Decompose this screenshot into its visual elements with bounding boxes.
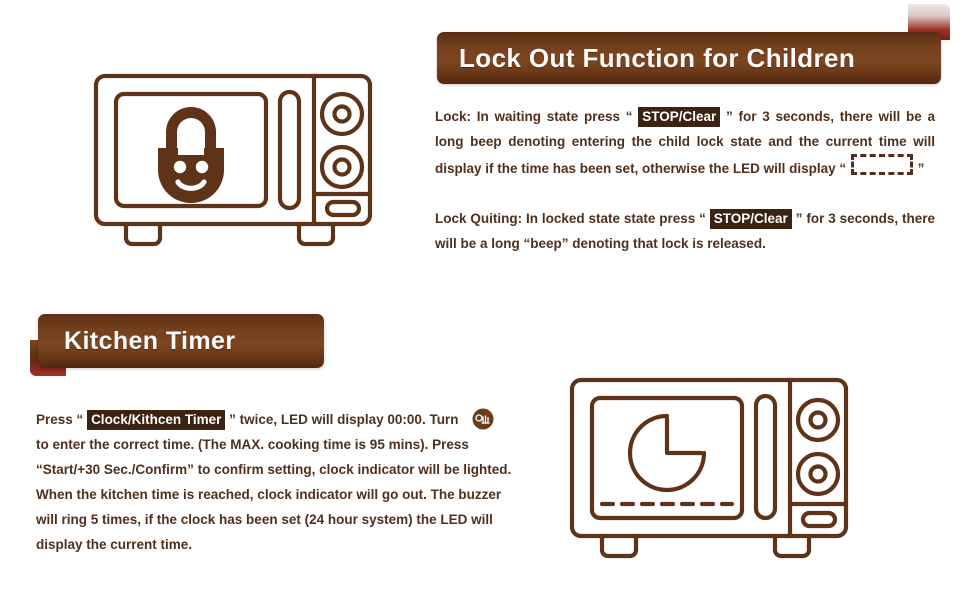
foot-left: [126, 224, 160, 244]
smiley-eye-right: [196, 161, 208, 173]
stop-clear-chip[interactable]: STOP/Clear: [710, 209, 792, 229]
timer-text-after-chip: ” twice, LED will display 00:00. Turn: [229, 412, 458, 427]
knob-outer-lower: [798, 454, 838, 494]
stop-clear-chip[interactable]: STOP/Clear: [638, 107, 720, 127]
ribbon-banner-kitchen-timer: Kitchen Timer: [38, 314, 324, 368]
padlock-smiley-icon: [158, 107, 224, 203]
padlock-shackle: [166, 107, 216, 148]
paragraph-lock: Lock: In waiting state press “ STOP/Clea…: [435, 104, 935, 181]
knob-inner-upper: [335, 107, 350, 122]
panel-slot: [803, 513, 835, 526]
door-handle: [756, 396, 775, 518]
ribbon-banner-lock-out: Lock Out Function for Children: [437, 32, 941, 84]
lock-text-before-chip: Lock: In waiting state press “: [435, 109, 632, 124]
foot-right: [299, 224, 333, 244]
quit-text-before-chip: Lock Quiting: In locked state state pres…: [435, 211, 706, 226]
clock-hands: [667, 419, 701, 453]
knob-outer-lower: [322, 147, 362, 187]
smiley-eye-left: [174, 161, 186, 173]
microwave-with-child-lock-illustration: [92, 72, 382, 252]
ribbon-title-lock-out: Lock Out Function for Children: [459, 43, 855, 74]
rotate-knob-hand-icon: [472, 408, 494, 430]
door-handle: [280, 92, 299, 208]
timer-text-after-knob: to enter the correct time. (The MAX. coo…: [36, 437, 511, 552]
foot-left: [602, 536, 636, 556]
paragraph-lock-quiting: Lock Quiting: In locked state state pres…: [435, 206, 935, 256]
ribbon-title-kitchen-timer: Kitchen Timer: [64, 327, 235, 356]
clock-icon: [630, 416, 704, 490]
clock-kitchen-timer-chip[interactable]: Clock/Kithcen Timer: [87, 410, 225, 430]
panel-slot: [327, 202, 359, 215]
microwave-with-clock-illustration: [568, 376, 858, 564]
knob-inner-lower: [811, 467, 826, 482]
knob-inner-upper: [811, 413, 826, 428]
foot-right: [775, 536, 809, 556]
padlock-body: [158, 148, 224, 203]
lock-text-tail: ”: [918, 161, 925, 176]
timer-text-before-chip: Press “: [36, 412, 83, 427]
knob-inner-lower: [335, 160, 350, 175]
knob-outer-upper: [322, 94, 362, 134]
knob-outer-upper: [798, 400, 838, 440]
lock-out-body-copy: Lock: In waiting state press “ STOP/Clea…: [435, 104, 935, 256]
blank-led-display-icon: [851, 154, 913, 175]
paragraph-kitchen-timer: Press “ Clock/Kithcen Timer ” twice, LED…: [36, 407, 516, 557]
kitchen-timer-body-copy: Press “ Clock/Kithcen Timer ” twice, LED…: [36, 407, 516, 557]
